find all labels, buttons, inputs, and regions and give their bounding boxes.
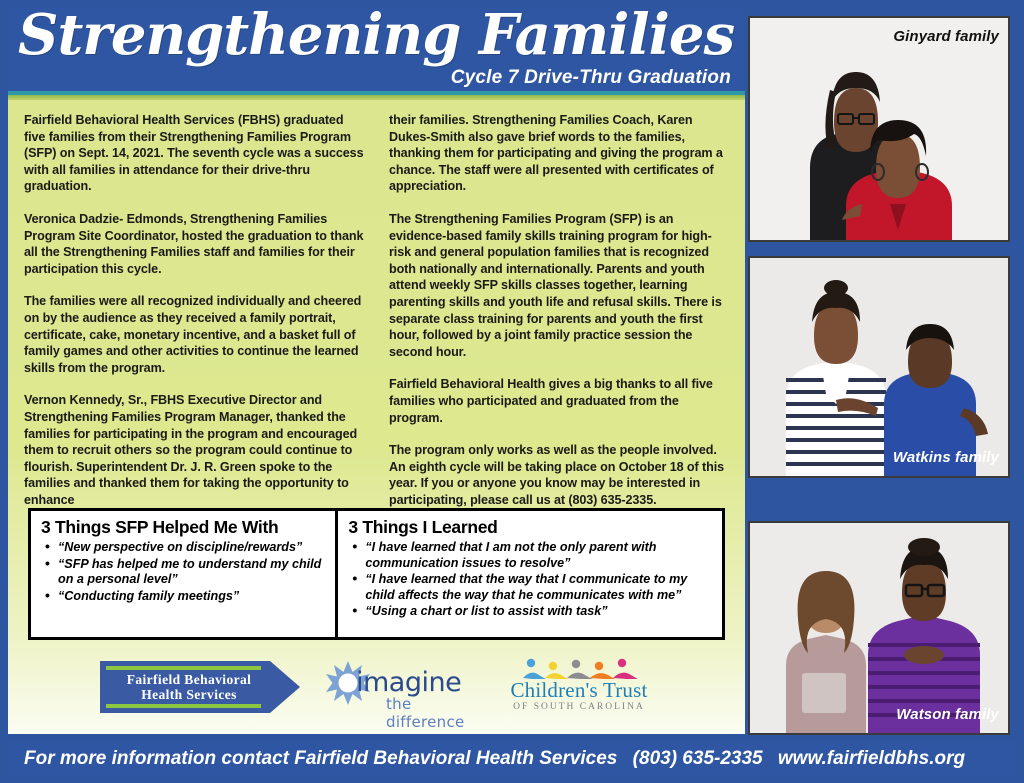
testimonial-list: “I have learned that I am not the only p… (348, 540, 714, 620)
testimonial-boxes: 3 Things SFP Helped Me With “New perspec… (28, 508, 725, 640)
paragraph: The Strengthening Families Program (SFP)… (389, 211, 730, 360)
paragraph: Fairfield Behavioral Health gives a big … (389, 376, 730, 426)
footer-contact-text: For more information contact Fairfield B… (24, 748, 617, 769)
photo-caption: Watson family (896, 706, 999, 723)
paragraph: their families. Strengthening Families C… (389, 112, 730, 195)
testimonial-box-learned: 3 Things I Learned “I have learned that … (338, 511, 722, 637)
photo-caption: Ginyard family (893, 28, 999, 45)
paragraph: The families were all recognized individ… (24, 293, 365, 376)
footer-contact-line: For more information contact Fairfield B… (24, 748, 975, 770)
photo-image (750, 523, 1008, 733)
header-subtitle: Cycle 7 Drive-Thru Graduation (451, 67, 731, 89)
paragraph: Vernon Kennedy, Sr., FBHS Executive Dire… (24, 392, 365, 508)
list-item: “Conducting family meetings” (56, 589, 327, 605)
fbhs-logo-text: Fairfield Behavioral Health Services (100, 672, 278, 702)
photo-ginyard-family: Ginyard family (748, 16, 1010, 242)
childrens-trust-name: Children's Trust (504, 679, 654, 701)
paragraph: The program only works as well as the pe… (389, 442, 730, 508)
linked-people-icon (504, 657, 654, 679)
testimonial-list: “New perspective on discipline/rewards” … (41, 540, 327, 604)
photo-image (750, 18, 1008, 240)
article-panel: Fairfield Behavioral Health Services (FB… (8, 100, 745, 734)
list-item: “I have learned that I am not the only p… (363, 540, 714, 571)
photo-watson-family: Watson family (748, 521, 1010, 735)
article-left-column: Fairfield Behavioral Health Services (FB… (24, 112, 365, 524)
footer-phone: (803) 635-2335 (633, 748, 763, 769)
page-title: Strengthening Families Program (18, 8, 745, 68)
header-divider-rule (8, 91, 745, 100)
list-item: “Using a chart or list to assist with ta… (363, 604, 714, 620)
paragraph: Fairfield Behavioral Health Services (FB… (24, 112, 365, 195)
testimonial-title: 3 Things I Learned (348, 517, 714, 538)
fbhs-logo-line1: Fairfield Behavioral (100, 672, 278, 687)
imagine-logo-word: imagine (356, 667, 461, 698)
list-item: “I have learned that the way that I comm… (363, 572, 714, 603)
testimonial-box-helped-with: 3 Things SFP Helped Me With “New perspec… (31, 511, 338, 637)
footer-bar: For more information contact Fairfield B… (8, 742, 1016, 775)
photo-caption: Watkins family (893, 449, 999, 466)
footer-website[interactable]: www.fairfieldbhs.org (778, 748, 965, 769)
photo-watkins-family: Watkins family (748, 256, 1010, 478)
fairfield-behavioral-health-logo: Fairfield Behavioral Health Services (100, 661, 300, 713)
header-banner: Strengthening Families Program Cycle 7 D… (8, 8, 745, 91)
childrens-trust-subtitle: OF SOUTH CAROLINA (504, 702, 654, 712)
paragraph: Veronica Dadzie- Edmonds, Strengthening … (24, 211, 365, 277)
imagine-logo-tagline: the difference (386, 695, 478, 731)
testimonial-title: 3 Things SFP Helped Me With (41, 517, 327, 538)
fbhs-logo-line2: Health Services (100, 687, 278, 702)
newsletter-page: Strengthening Families Program Cycle 7 D… (0, 0, 1024, 783)
childrens-trust-logo: Children's Trust OF SOUTH CAROLINA (504, 657, 654, 717)
article-right-column: their families. Strengthening Families C… (389, 112, 730, 524)
list-item: “New perspective on discipline/rewards” (56, 540, 327, 556)
imagine-the-difference-logo: imagine the difference (326, 659, 478, 715)
list-item: “SFP has helped me to understand my chil… (56, 557, 327, 588)
partner-logos: Fairfield Behavioral Health Services ima… (24, 648, 730, 726)
photo-image (750, 258, 1008, 476)
article-columns: Fairfield Behavioral Health Services (FB… (24, 112, 730, 524)
